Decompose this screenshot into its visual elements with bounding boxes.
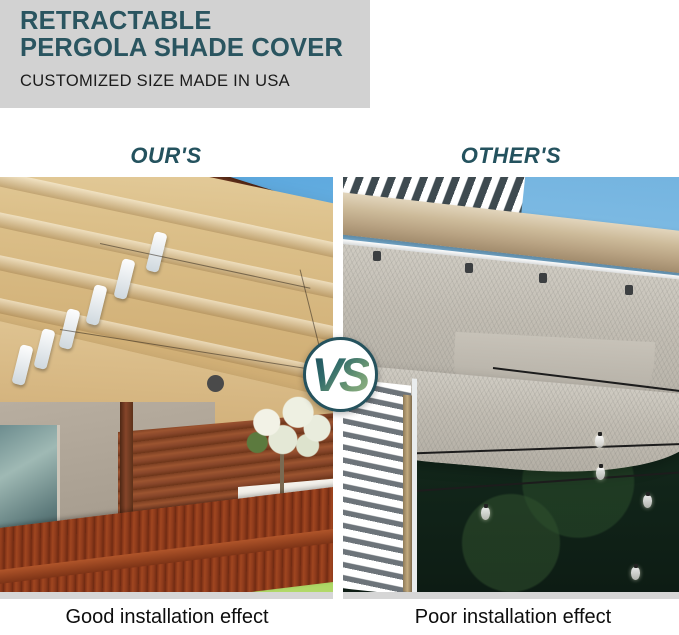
string-light-bulb — [596, 467, 605, 480]
string-light-bulb — [481, 507, 490, 520]
label-others: OTHER'S — [441, 143, 581, 169]
mesh-fastener — [539, 273, 547, 283]
page-title: RETRACTABLE PERGOLA SHADE COVER — [20, 8, 365, 62]
mesh-fastener — [373, 251, 381, 261]
label-ours: OUR'S — [96, 143, 236, 169]
string-light-bulb — [595, 435, 604, 448]
page-subtitle: CUSTOMIZED SIZE MADE IN USA — [20, 72, 290, 91]
header-banner: RETRACTABLE PERGOLA SHADE COVER CUSTOMIZ… — [0, 0, 370, 108]
page-title-line-2: PERGOLA SHADE COVER — [20, 34, 343, 62]
photo-bottom-strip-left — [0, 592, 333, 599]
photo-bottom-strip-right — [343, 592, 679, 599]
mesh-fastener — [625, 285, 633, 295]
caption-good-installation: Good installation effect — [22, 606, 312, 629]
string-light-bulb — [643, 495, 652, 508]
vs-badge: VS — [303, 337, 378, 412]
vs-badge-label: VS — [312, 351, 370, 398]
poor-installation-photo — [343, 177, 679, 592]
louvered-wall — [343, 378, 411, 592]
good-installation-photo — [0, 177, 333, 592]
mesh-fastener — [465, 263, 473, 273]
caption-poor-installation: Poor installation effect — [368, 606, 658, 629]
string-light-bulb — [631, 567, 640, 580]
page-title-line-1: RETRACTABLE — [20, 7, 212, 35]
satellite-dish — [207, 375, 224, 392]
wooden-post — [403, 395, 412, 592]
